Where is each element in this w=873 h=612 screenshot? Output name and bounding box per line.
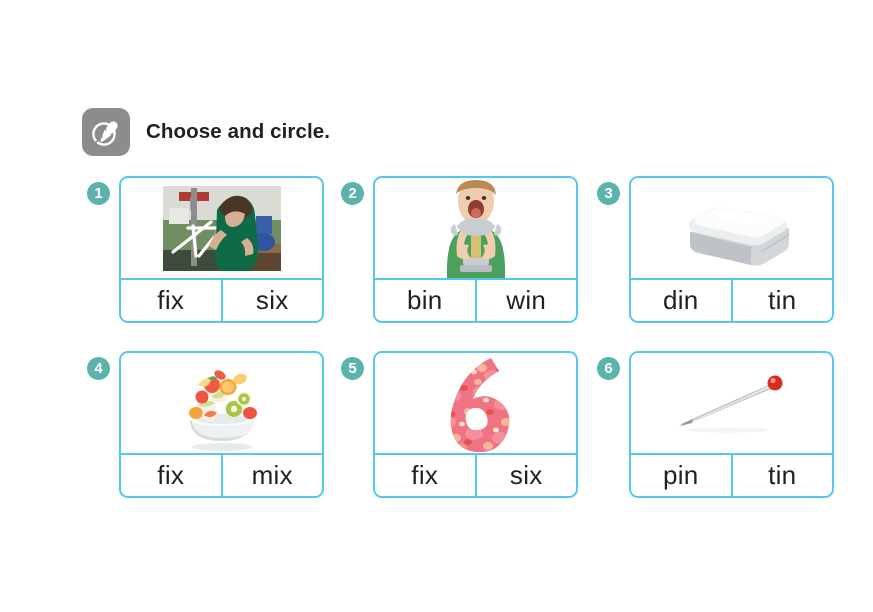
exercise-card-2[interactable]: bin win — [373, 176, 578, 323]
exercise-item-3: 3 din tin — [597, 176, 834, 323]
instruction-bar: Choose and circle. — [82, 108, 330, 156]
exercise-item-6: 6 pin tin — [597, 351, 834, 498]
word-option[interactable]: fix — [121, 280, 221, 321]
exercise-grid: 1 — [0, 176, 873, 526]
sewing-pin-photo — [631, 353, 832, 453]
exercise-card-6[interactable]: pin tin — [629, 351, 834, 498]
exercise-item-2: 2 — [341, 176, 578, 323]
item-number-badge: 3 — [597, 182, 620, 205]
word-option[interactable]: tin — [731, 280, 833, 321]
child-with-trophy-photo — [375, 178, 576, 278]
word-option[interactable]: tin — [731, 455, 833, 496]
word-choice-row: fix mix — [121, 453, 322, 496]
exercise-item-4: 4 — [87, 351, 324, 498]
exercise-card-5[interactable]: fix six — [373, 351, 578, 498]
item-number-badge: 1 — [87, 182, 110, 205]
item-number-badge: 2 — [341, 182, 364, 205]
exercise-row-1: 1 — [0, 176, 873, 351]
exercise-card-3[interactable]: din tin — [629, 176, 834, 323]
exercise-row-2: 4 — [0, 351, 873, 526]
item-number-badge: 6 — [597, 357, 620, 380]
metal-tin-box-photo — [631, 178, 832, 278]
exercise-item-1: 1 — [87, 176, 324, 323]
exercise-card-1[interactable]: fix six — [119, 176, 324, 323]
instruction-text: Choose and circle. — [146, 120, 330, 144]
bicycle-mechanic-photo — [121, 178, 322, 278]
item-number-badge: 5 — [341, 357, 364, 380]
circle-marker-icon — [82, 108, 130, 156]
word-choice-row: fix six — [121, 278, 322, 321]
word-option[interactable]: six — [221, 280, 323, 321]
floral-number-six-photo — [375, 353, 576, 453]
word-option[interactable]: pin — [631, 455, 731, 496]
word-option[interactable]: win — [475, 280, 577, 321]
word-choice-row: fix six — [375, 453, 576, 496]
word-option[interactable]: mix — [221, 455, 323, 496]
word-option[interactable]: fix — [375, 455, 475, 496]
word-choice-row: bin win — [375, 278, 576, 321]
word-choice-row: pin tin — [631, 453, 832, 496]
word-option[interactable]: bin — [375, 280, 475, 321]
word-option[interactable]: din — [631, 280, 731, 321]
item-number-badge: 4 — [87, 357, 110, 380]
exercise-item-5: 5 — [341, 351, 578, 498]
word-option[interactable]: fix — [121, 455, 221, 496]
word-choice-row: din tin — [631, 278, 832, 321]
fruit-salad-bowl-photo — [121, 353, 322, 453]
exercise-card-4[interactable]: fix mix — [119, 351, 324, 498]
word-option[interactable]: six — [475, 455, 577, 496]
